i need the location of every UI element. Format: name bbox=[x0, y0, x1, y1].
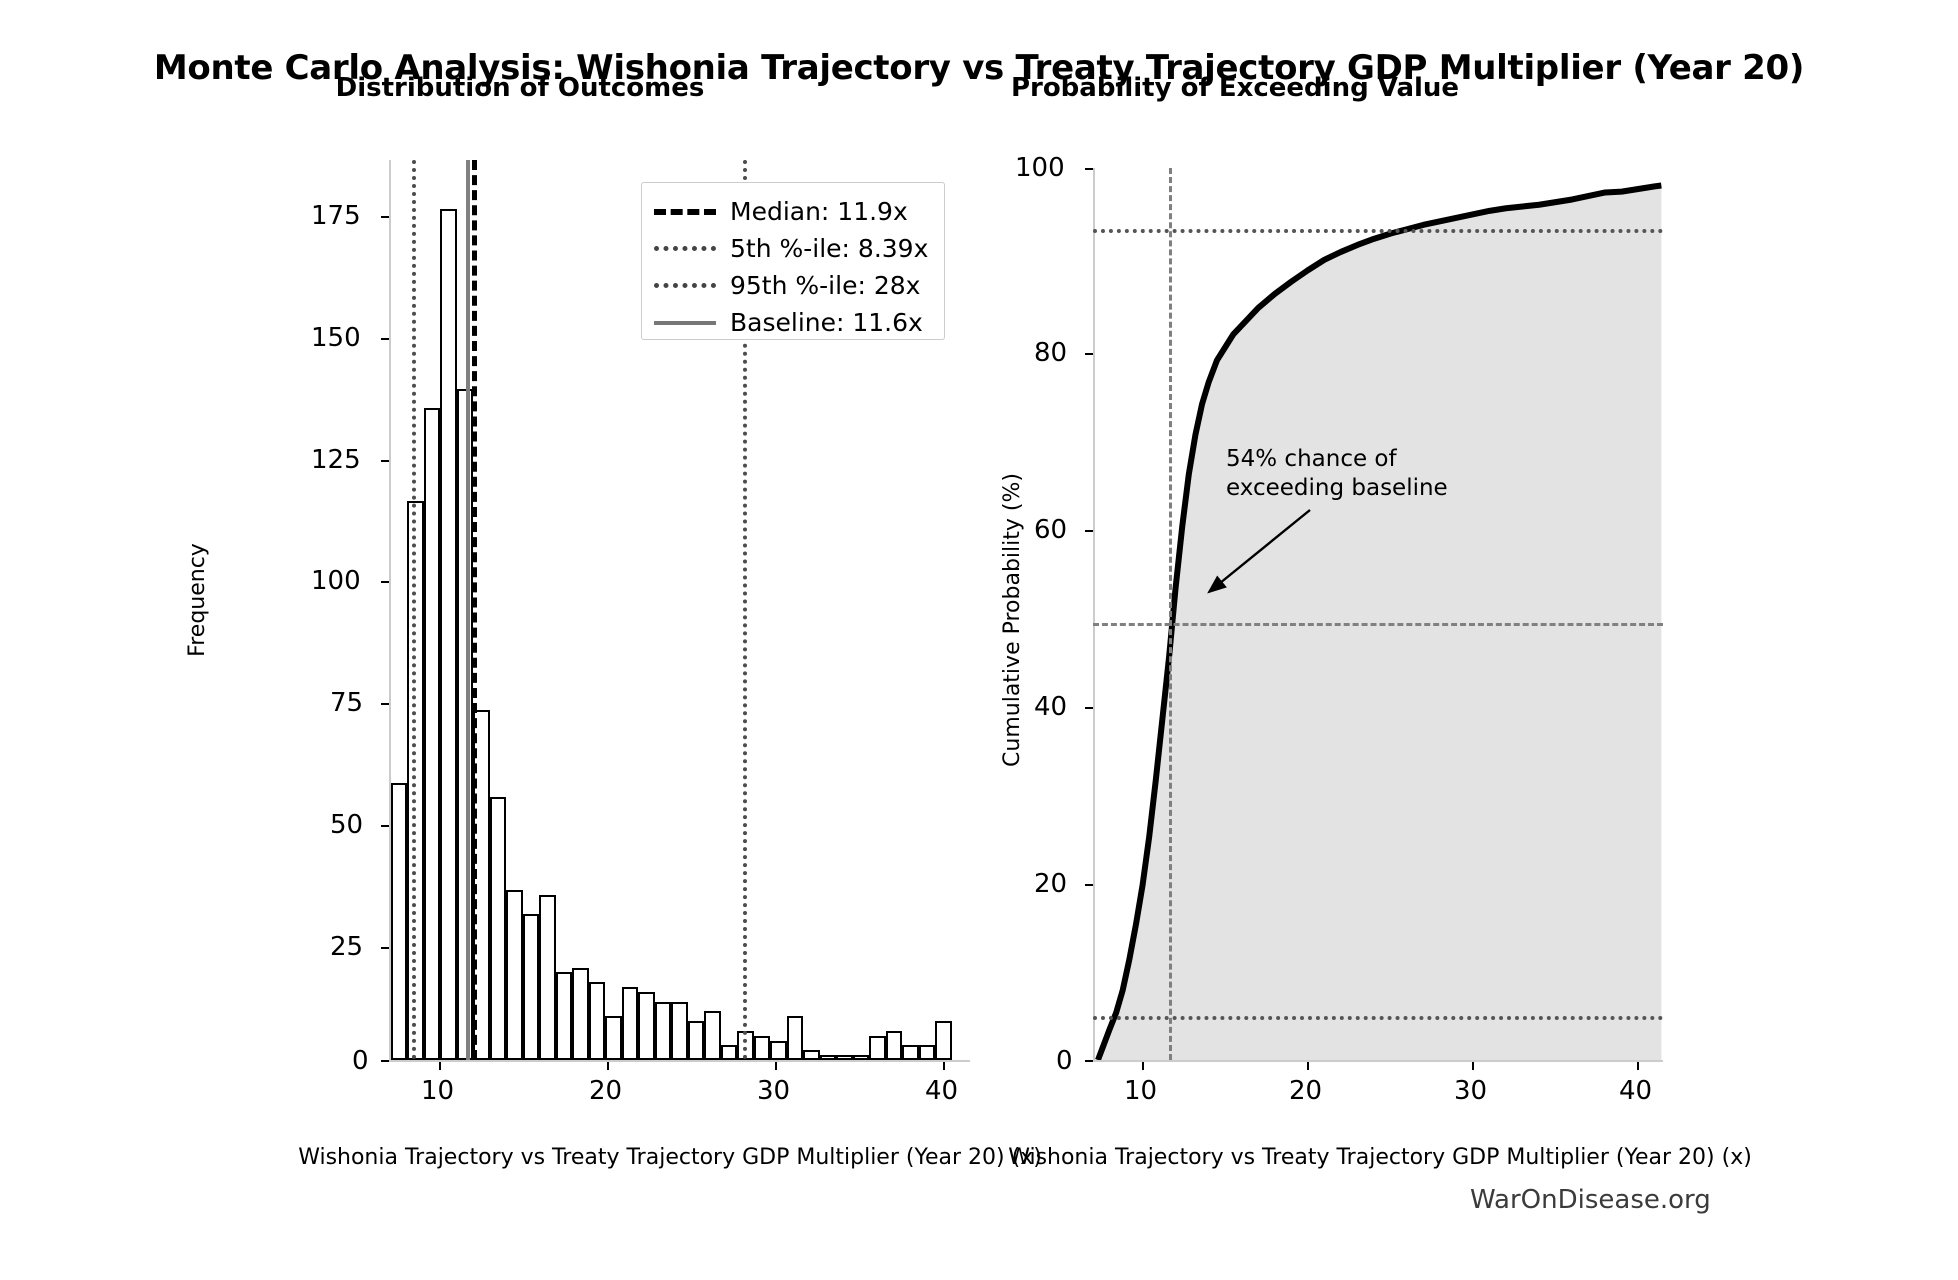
right-ytick-20: 20 bbox=[1034, 869, 1067, 899]
histogram-bar bbox=[391, 783, 408, 1060]
histogram-bar bbox=[506, 890, 523, 1060]
left-ylabel: Frequency bbox=[185, 543, 210, 657]
cdf-marker-p5-hline bbox=[1093, 1016, 1663, 1020]
histogram-bar bbox=[803, 1050, 820, 1060]
right-ytick-80: 80 bbox=[1034, 338, 1067, 368]
right-ytick-0: 0 bbox=[1056, 1046, 1073, 1076]
left-panel-title: Distribution of Outcomes bbox=[230, 73, 810, 103]
histogram-bar bbox=[919, 1045, 936, 1060]
legend-label-baseline: Baseline: 11.6x bbox=[730, 308, 923, 337]
left-axis-spine-bottom bbox=[389, 1060, 970, 1062]
histogram-bar bbox=[770, 1041, 787, 1060]
right-xtick-mark-10 bbox=[1142, 1062, 1144, 1070]
right-ytick-100: 100 bbox=[1015, 153, 1065, 183]
left-xtick-10: 10 bbox=[421, 1076, 454, 1106]
right-ytick-mark-20 bbox=[1085, 884, 1093, 886]
left-xtick-20: 20 bbox=[589, 1076, 622, 1106]
histogram-marker-baseline bbox=[466, 160, 470, 1060]
histogram-bar bbox=[704, 1011, 721, 1060]
right-xtick-mark-40 bbox=[1637, 1062, 1639, 1070]
legend-label-median: Median: 11.9x bbox=[730, 197, 908, 226]
cdf-curve-svg bbox=[1093, 168, 1663, 1060]
histogram-bar bbox=[671, 1002, 688, 1060]
histogram-bar bbox=[638, 992, 655, 1060]
left-ytick-125: 125 bbox=[311, 445, 361, 475]
histogram-bar bbox=[902, 1045, 919, 1060]
left-ytick-mark-50 bbox=[381, 825, 389, 827]
histogram-bar bbox=[556, 972, 573, 1060]
histogram-bar bbox=[754, 1036, 771, 1060]
legend-item-baseline[interactable]: Baseline: 11.6x bbox=[654, 304, 930, 341]
right-xtick-mark-30 bbox=[1472, 1062, 1474, 1070]
left-ytick-mark-25 bbox=[381, 947, 389, 949]
left-xtick-mark-20 bbox=[607, 1062, 609, 1070]
left-xtick-mark-10 bbox=[439, 1062, 441, 1070]
cdf-plot-area bbox=[1093, 168, 1663, 1060]
cdf-marker-p95-hline bbox=[1093, 229, 1663, 233]
left-ytick-75: 75 bbox=[330, 688, 363, 718]
right-panel-title: Probability of Exceeding Value bbox=[855, 73, 1615, 103]
right-xtick-mark-20 bbox=[1307, 1062, 1309, 1070]
legend-item-median[interactable]: Median: 11.9x bbox=[654, 193, 930, 230]
figure-canvas: Monte Carlo Analysis: Wishonia Trajector… bbox=[0, 0, 1958, 1280]
histogram-bar bbox=[523, 914, 540, 1060]
left-ytick-50: 50 bbox=[330, 810, 363, 840]
right-ytick-mark-100 bbox=[1085, 168, 1093, 170]
left-ytick-mark-100 bbox=[381, 581, 389, 583]
left-ytick-mark-0 bbox=[381, 1060, 389, 1062]
legend-label-p95: 95th %-ile: 28x bbox=[730, 271, 920, 300]
histogram-bar bbox=[820, 1055, 837, 1060]
histogram-bar bbox=[853, 1055, 870, 1060]
footer-watermark: WarOnDisease.org bbox=[1470, 1185, 1711, 1215]
histogram-bar bbox=[572, 968, 589, 1060]
histogram-bar bbox=[622, 987, 639, 1060]
histogram-bar bbox=[688, 1021, 705, 1060]
histogram-marker-median bbox=[472, 160, 477, 1060]
left-ytick-mark-125 bbox=[381, 460, 389, 462]
cdf-annotation-line2: exceeding baseline bbox=[1226, 474, 1448, 503]
right-xtick-20: 20 bbox=[1289, 1076, 1322, 1106]
legend-label-p5: 5th %-ile: 8.39x bbox=[730, 234, 928, 263]
right-ytick-mark-40 bbox=[1085, 707, 1093, 709]
legend-swatch-dotted-line-2 bbox=[654, 283, 716, 288]
histogram-bar bbox=[490, 797, 507, 1060]
histogram-legend[interactable]: Median: 11.9x 5th %-ile: 8.39x 95th %-il… bbox=[641, 182, 945, 340]
legend-item-p5[interactable]: 5th %-ile: 8.39x bbox=[654, 230, 930, 267]
left-ytick-mark-75 bbox=[381, 703, 389, 705]
right-xlabel: Wishonia Trajectory vs Treaty Trajectory… bbox=[890, 1145, 1870, 1170]
left-ytick-mark-150 bbox=[381, 338, 389, 340]
legend-swatch-dashed-line bbox=[654, 209, 716, 215]
left-xtick-40: 40 bbox=[925, 1076, 958, 1106]
right-xtick-10: 10 bbox=[1124, 1076, 1157, 1106]
cdf-annotation-line1: 54% chance of bbox=[1226, 445, 1448, 474]
histogram-bar bbox=[440, 209, 457, 1060]
right-ytick-mark-80 bbox=[1085, 353, 1093, 355]
right-ytick-mark-0 bbox=[1085, 1060, 1093, 1062]
legend-item-p95[interactable]: 95th %-ile: 28x bbox=[654, 267, 930, 304]
right-ytick-mark-60 bbox=[1085, 530, 1093, 532]
histogram-bar bbox=[721, 1045, 738, 1060]
annotation-arrow-overlay bbox=[0, 0, 1958, 1280]
left-ytick-175: 175 bbox=[311, 201, 361, 231]
histogram-bar bbox=[787, 1016, 804, 1060]
cdf-marker-baseline-vline bbox=[1169, 168, 1172, 1060]
right-xtick-30: 30 bbox=[1454, 1076, 1487, 1106]
left-xtick-mark-30 bbox=[775, 1062, 777, 1070]
left-xtick-30: 30 bbox=[757, 1076, 790, 1106]
histogram-bar bbox=[886, 1031, 903, 1060]
right-axis-spine-bottom bbox=[1093, 1060, 1663, 1062]
histogram-bar bbox=[836, 1055, 853, 1060]
histogram-bar bbox=[655, 1002, 672, 1060]
histogram-bar bbox=[424, 408, 441, 1060]
left-ytick-100: 100 bbox=[311, 566, 361, 596]
histogram-bar bbox=[935, 1021, 952, 1060]
right-xtick-40: 40 bbox=[1619, 1076, 1652, 1106]
cdf-annotation: 54% chance of exceeding baseline bbox=[1226, 445, 1448, 503]
legend-swatch-solid-line bbox=[654, 321, 716, 325]
left-ytick-25: 25 bbox=[330, 932, 363, 962]
histogram-bar bbox=[589, 982, 606, 1060]
legend-swatch-dotted-line bbox=[654, 246, 716, 251]
left-ytick-0: 0 bbox=[352, 1046, 369, 1076]
left-ytick-150: 150 bbox=[311, 323, 361, 353]
histogram-bar bbox=[539, 895, 556, 1060]
histogram-bar bbox=[605, 1016, 622, 1060]
histogram-bar bbox=[869, 1036, 886, 1060]
right-ytick-40: 40 bbox=[1034, 692, 1067, 722]
cdf-marker-median-hline bbox=[1093, 623, 1663, 626]
left-ytick-mark-175 bbox=[381, 216, 389, 218]
right-ytick-60: 60 bbox=[1034, 515, 1067, 545]
right-ylabel: Cumulative Probability (%) bbox=[1000, 473, 1025, 767]
histogram-marker-p5 bbox=[412, 160, 416, 1060]
left-xtick-mark-40 bbox=[943, 1062, 945, 1070]
